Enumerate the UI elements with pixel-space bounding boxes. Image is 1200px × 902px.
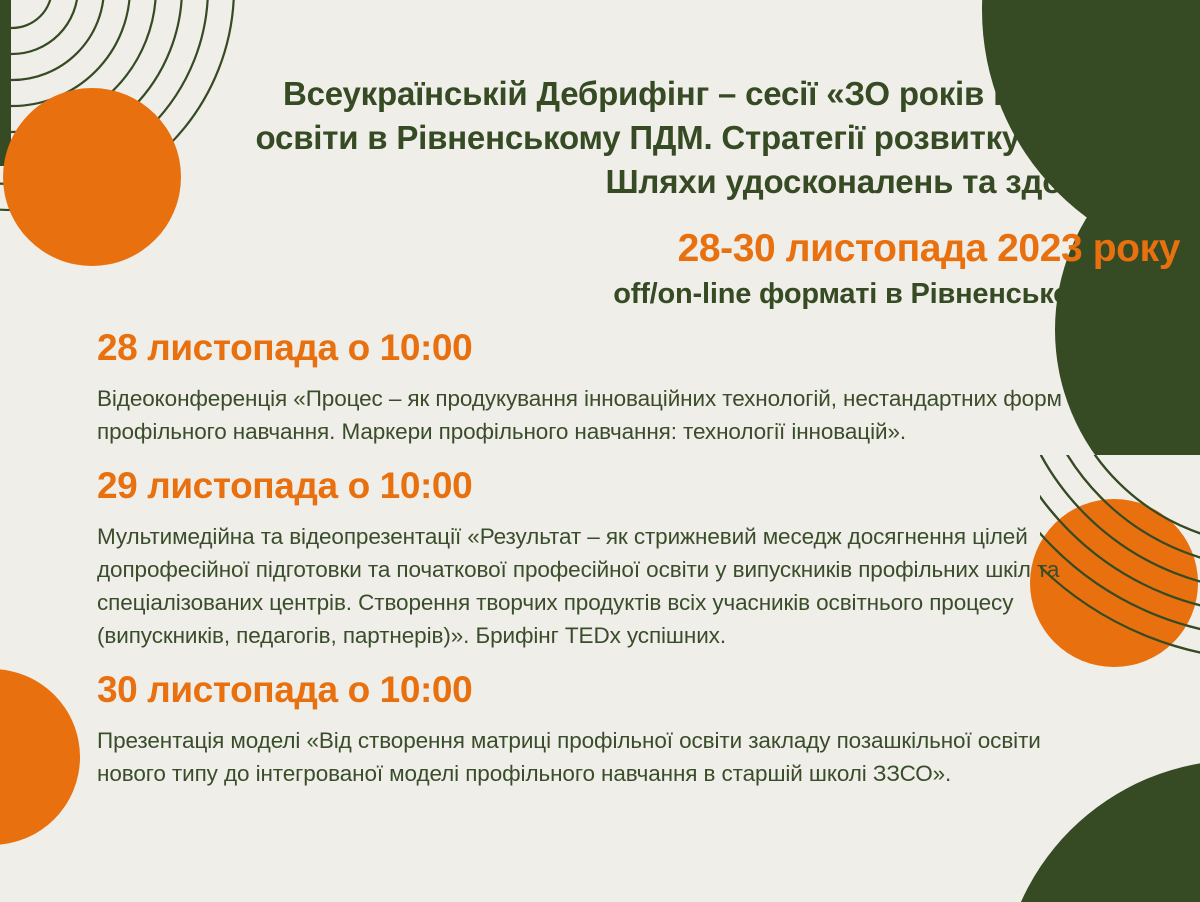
poster-content: Всеукраїнській Дебрифінг – сесії «ЗО рок… [0, 0, 1200, 902]
poster-header: Всеукраїнській Дебрифінг – сесії «ЗО рок… [180, 72, 1180, 312]
date-range: 28-30 листопада 2023 року [180, 204, 1180, 272]
session-description: Мультимедійна та відеопрезентації «Резул… [97, 521, 1072, 652]
schedule-list: 28 листопада о 10:00 Відеоконференція «П… [97, 328, 1087, 797]
session-time: 29 листопада о 10:00 [97, 466, 1087, 507]
session-description: Відеоконференція «Процес – як продукуван… [97, 383, 1072, 449]
session-item: 30 листопада о 10:00 Презентація моделі … [97, 670, 1087, 790]
session-item: 28 листопада о 10:00 Відеоконференція «П… [97, 328, 1087, 448]
session-item: 29 листопада о 10:00 Мультимедійна та ві… [97, 466, 1087, 652]
event-poster: Всеукраїнській Дебрифінг – сесії «ЗО рок… [0, 0, 1200, 902]
main-title: Всеукраїнській Дебрифінг – сесії «ЗО рок… [180, 72, 1180, 204]
session-description: Презентація моделі «Від створення матриц… [97, 725, 1072, 791]
session-time: 30 листопада о 10:00 [97, 670, 1087, 711]
format-line: off/on-line форматі в Рівненському ПДМ [180, 272, 1180, 312]
session-time: 28 листопада о 10:00 [97, 328, 1087, 369]
